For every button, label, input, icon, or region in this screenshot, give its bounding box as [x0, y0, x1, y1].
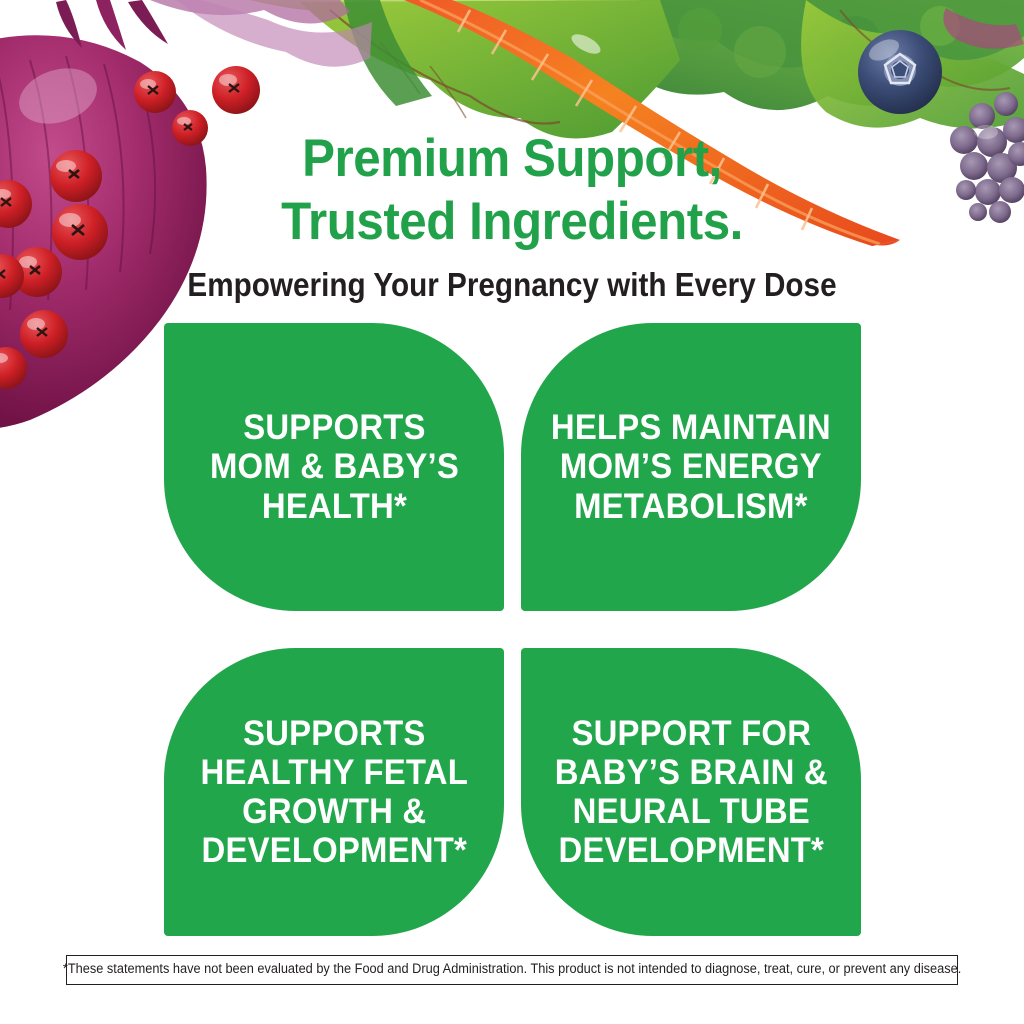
benefit-panel-supports-mom-and-babys-health: SUPPORTS MOM & BABY’S HEALTH*	[164, 323, 504, 611]
fda-disclaimer-box: *These statements have not been evaluate…	[66, 955, 958, 985]
page-title: Premium Support, Trusted Ingredients.	[36, 128, 988, 253]
benefit-panel-supports-healthy-fetal-growth-and-development: SUPPORTS HEALTHY FETAL GROWTH & DEVELOPM…	[164, 648, 504, 936]
page-subtitle: Empowering Your Pregnancy with Every Dos…	[51, 267, 973, 303]
beet-greens-illustration	[943, 8, 1024, 49]
kale-leaf-illustration	[250, 0, 680, 138]
beet-greens-illustration	[801, 0, 1024, 129]
blueberry-illustration	[858, 30, 942, 114]
headline-line-1: Premium Support,	[302, 129, 722, 188]
benefit-label: SUPPORT FOR BABY’S BRAIN & NEURAL TUBE D…	[554, 714, 827, 871]
broccoli-illustration	[556, 0, 1024, 110]
kale-leaf-illustration	[344, 0, 432, 106]
benefits-grid: SUPPORTS MOM & BABY’S HEALTH* HELPS MAIN…	[164, 323, 861, 936]
benefit-label: SUPPORTS HEALTHY FETAL GROWTH & DEVELOPM…	[200, 714, 467, 871]
headline-block: Premium Support, Trusted Ingredients. Em…	[0, 128, 1024, 303]
headline-line-2: Trusted Ingredients.	[36, 191, 988, 254]
promo-graphic: Premium Support, Trusted Ingredients. Em…	[0, 0, 1024, 1024]
benefit-label: HELPS MAINTAIN MOM’S ENERGY METABOLISM*	[551, 408, 831, 526]
benefit-label: SUPPORTS MOM & BABY’S HEALTH*	[209, 408, 458, 526]
benefit-panel-support-for-babys-brain-and-neural-tube-development: SUPPORT FOR BABY’S BRAIN & NEURAL TUBE D…	[521, 648, 861, 936]
fda-disclaimer-text: *These statements have not been evaluate…	[63, 962, 961, 978]
benefit-panel-helps-maintain-moms-energy-metabolism: HELPS MAINTAIN MOM’S ENERGY METABOLISM*	[521, 323, 861, 611]
